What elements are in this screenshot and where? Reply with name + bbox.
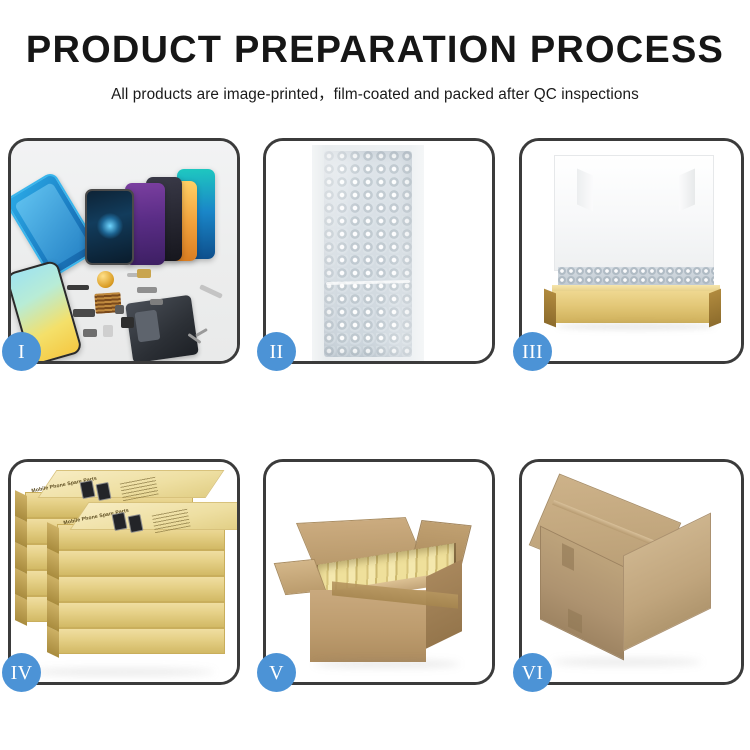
step-numeral-1: I <box>18 342 25 362</box>
step-badge-5: V <box>257 653 296 692</box>
step-numeral-4: IV <box>11 663 33 683</box>
stacked-box <box>57 628 225 654</box>
step-1-photo <box>11 141 237 361</box>
small-part-icon <box>115 305 124 314</box>
step-5-image-clip <box>266 462 492 682</box>
header: PRODUCT PREPARATION PROCESS All products… <box>0 0 750 104</box>
step-card-6[interactable]: VI <box>519 459 744 685</box>
inner-box-end-right <box>709 289 721 328</box>
step-numeral-3: III <box>522 342 543 362</box>
step-5-photo <box>266 462 492 682</box>
step-numeral-2: II <box>270 342 284 362</box>
step-3-photo <box>522 141 741 361</box>
drop-shadow <box>556 323 716 330</box>
small-part-icon <box>150 299 163 305</box>
phone-glass-icon <box>85 189 134 265</box>
inner-box-end-left <box>544 289 556 328</box>
small-part-icon <box>73 309 95 317</box>
step-numeral-5: V <box>269 663 284 683</box>
small-part-icon <box>137 287 157 293</box>
drop-shadow <box>29 668 215 676</box>
step-4-photo: Mobile Phone Spare Parts Mobile Phone Sp… <box>11 462 237 682</box>
stacked-box <box>57 550 225 576</box>
screw-icon <box>195 328 208 337</box>
step-badge-3: III <box>513 332 552 371</box>
step-2-photo <box>266 141 492 361</box>
step-card-4[interactable]: Mobile Phone Spare Parts Mobile Phone Sp… <box>8 459 240 685</box>
steps-row-1: I II <box>8 138 744 364</box>
speaker-coil-icon <box>97 271 114 288</box>
product-preparation-infographic: PRODUCT PREPARATION PROCESS All products… <box>0 0 750 750</box>
lid-flap-left <box>577 168 593 211</box>
step-badge-2: II <box>257 332 296 371</box>
step-2-image-clip <box>266 141 492 361</box>
small-part-icon <box>83 329 97 337</box>
drop-shadow <box>552 658 702 666</box>
steps-grid: I II <box>8 138 744 750</box>
step-badge-1: I <box>2 332 41 371</box>
stacked-box <box>57 576 225 602</box>
camera-module-icon <box>121 317 134 328</box>
step-6-photo <box>522 462 741 682</box>
page-subtitle: All products are image-printed，film-coat… <box>0 71 750 104</box>
step-card-2[interactable]: II <box>263 138 495 364</box>
lid-flap-right <box>679 168 695 211</box>
inner-box-front <box>552 291 720 323</box>
tweezers-icon <box>199 284 223 299</box>
step-numeral-6: VI <box>522 663 544 683</box>
step-badge-4: IV <box>2 653 41 692</box>
step-6-image-clip <box>522 462 741 682</box>
steps-row-2: Mobile Phone Spare Parts Mobile Phone Sp… <box>8 459 744 685</box>
sim-tray-icon <box>103 325 113 337</box>
step-card-5[interactable]: V <box>263 459 495 685</box>
small-part-icon <box>137 269 151 278</box>
step-4-image-clip: Mobile Phone Spare Parts Mobile Phone Sp… <box>11 462 237 682</box>
step-1-image-clip <box>11 141 237 361</box>
flex-cable-icon <box>67 285 89 290</box>
page-title: PRODUCT PREPARATION PROCESS <box>0 0 750 71</box>
stacked-box <box>57 602 225 628</box>
step-badge-6: VI <box>513 653 552 692</box>
step-3-image-clip <box>522 141 741 361</box>
white-lid-icon <box>554 155 714 271</box>
bubble-wrap-sheen <box>324 151 412 357</box>
step-card-3[interactable]: III <box>519 138 744 364</box>
step-card-1[interactable]: I <box>8 138 240 364</box>
drop-shadow <box>314 660 460 668</box>
box-stack: Mobile Phone Spare Parts Mobile Phone Sp… <box>17 484 233 676</box>
